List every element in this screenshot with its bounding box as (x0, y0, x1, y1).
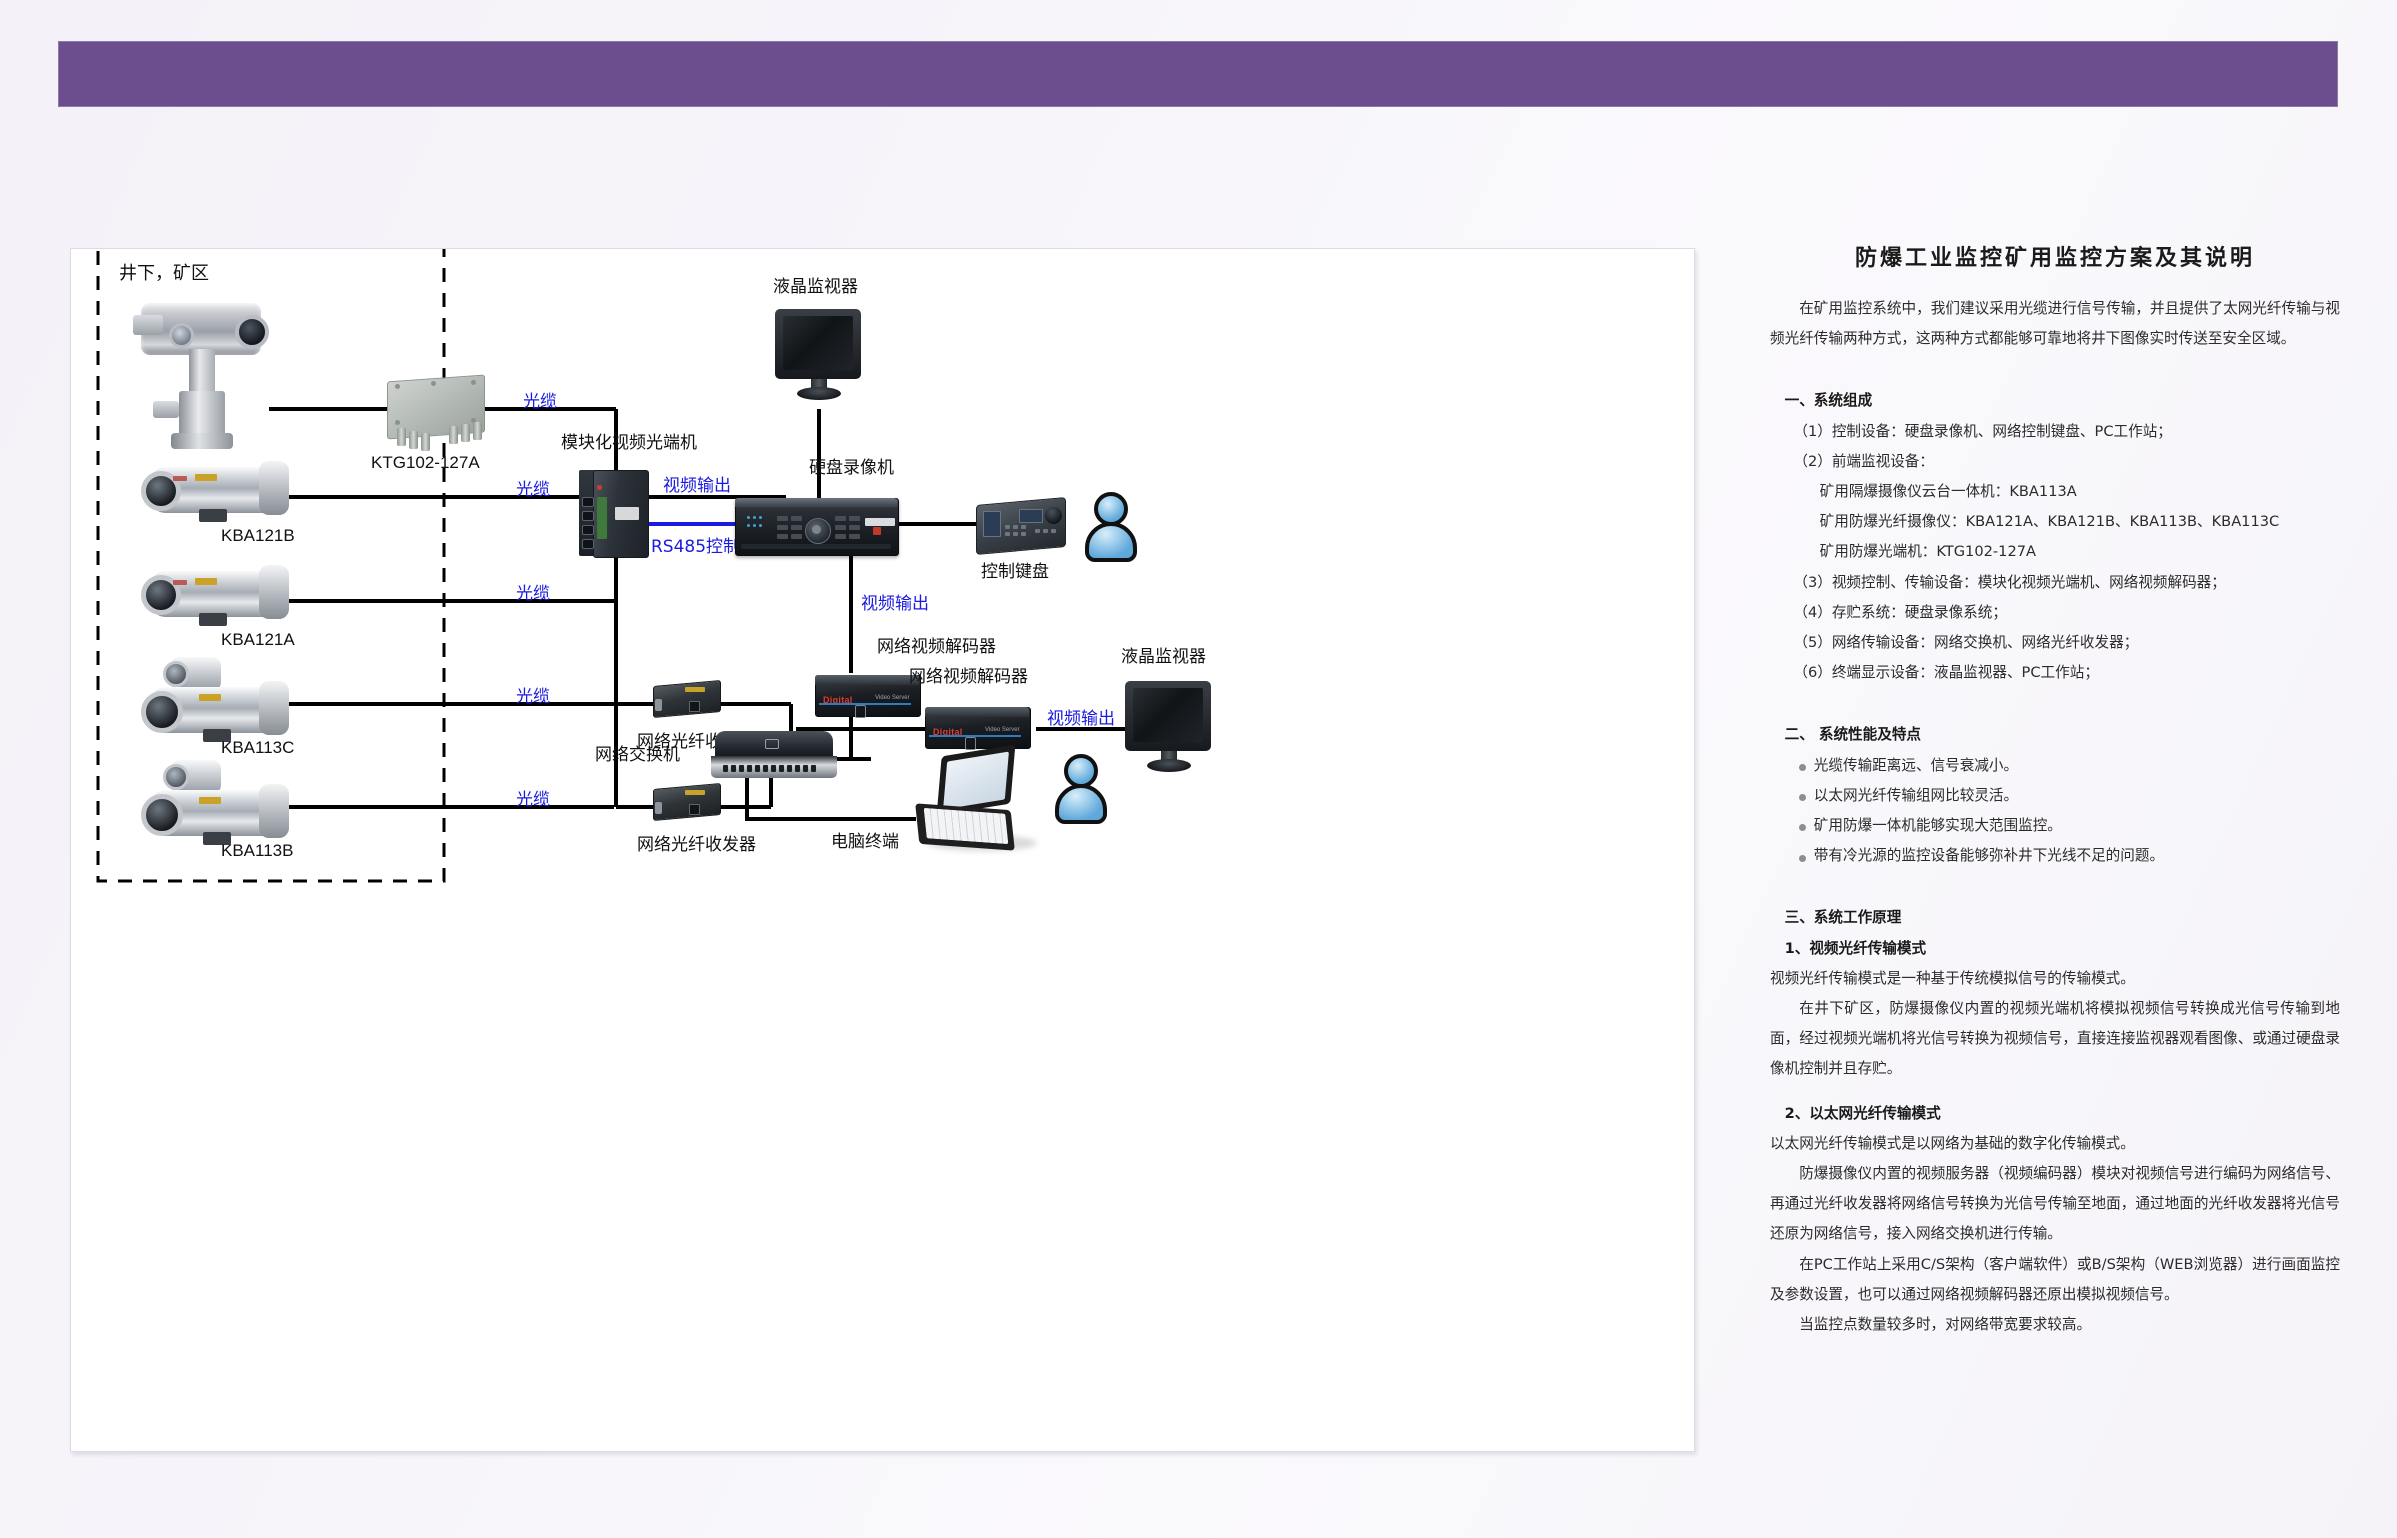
label-kba113b: KBA113B (221, 842, 293, 859)
camera-kba121b (133, 457, 293, 529)
label-video-decoder-top: 网络视频解码器 (877, 639, 996, 656)
article-intro: 在矿用监控系统中，我们建议采用光缆进行信号传输，并且提供了太网光纤传输与视频光纤… (1770, 294, 2340, 354)
section-1-subitem-2: 矿用防爆光纤摄像仪：KBA121A、KBA121B、KBA113B、KBA113… (1770, 507, 2340, 537)
header-banner (58, 41, 2338, 107)
lcd-monitor-top (771, 309, 871, 401)
section-2-bullet-2: 以太网光纤传输组网比较灵活。 (1770, 781, 2340, 811)
operator-avatar-top (1081, 492, 1141, 570)
camera-kba113c (133, 649, 303, 749)
label-dvr: 硬盘录像机 (809, 460, 894, 477)
pc-terminal-laptop (911, 749, 1051, 859)
label-video-decoder-bottom: 网络视频解码器 (909, 669, 1028, 686)
section-1-item-5: （5）网络传输设备：网络交换机、网络光纤收发器； (1770, 628, 2340, 658)
link-label-video-out-1: 视频输出 (663, 471, 731, 496)
ir-illuminator-icon (163, 764, 189, 790)
cable-label-1: 光缆 (523, 387, 557, 412)
link-label-video-out-3: 视频输出 (1047, 704, 1115, 729)
diagram-card: 井下，矿区 KBA113A KTG102 (70, 248, 1695, 1452)
fiber-transceiver-top (649, 679, 725, 721)
bullet-text: 带有冷光源的监控设备能够弥补井下光线不足的问题。 (1814, 847, 2164, 864)
label-network-switch: 网络交换机 (595, 747, 680, 764)
operator-avatar-bottom (1051, 754, 1111, 832)
section-2-bullet-4: 带有冷光源的监控设备能够弥补井下光线不足的问题。 (1770, 841, 2340, 871)
section-3-mode2-p1: 以太网光纤传输模式是以网络为基础的数字化传输模式。 (1770, 1129, 2340, 1159)
label-ktg102-127a: KTG102-127A (371, 454, 480, 471)
label-lcd-monitor-top: 液晶监视器 (773, 279, 858, 296)
article-column: 防爆工业监控矿用监控方案及其说明 在矿用监控系统中，我们建议采用光缆进行信号传输… (1770, 240, 2340, 1340)
video-decoder-top: Digital Video Server (811, 669, 925, 721)
modular-video-optical-terminal (579, 467, 639, 559)
section-1-heading: 一、系统组成 (1770, 386, 2340, 416)
label-modular-optical-terminal: 模块化视频光端机 (561, 435, 697, 452)
bullet-dot-icon (1799, 764, 1806, 771)
label-pc-terminal: 电脑终端 (831, 834, 899, 851)
bullet-dot-icon (1799, 794, 1806, 801)
section-1-subitem-1: 矿用隔爆摄像仪云台一体机：KBA113A (1770, 477, 2340, 507)
junction-box-ktg102 (383, 374, 493, 448)
bullet-text: 以太网光纤传输组网比较灵活。 (1814, 787, 2018, 804)
section-3-mode1-heading: 1、视频光纤传输模式 (1770, 934, 2340, 964)
camera-kba113b (133, 752, 303, 852)
section-2-heading: 二、 系统性能及特点 (1770, 720, 2340, 750)
section-3-mode2-p4: 当监控点数量较多时，对网络带宽要求较高。 (1770, 1310, 2340, 1340)
cable-label-4: 光缆 (516, 682, 550, 707)
label-kba121a: KBA121A (221, 631, 295, 648)
section-1-item-3: （3）视频控制、传输设备：模块化视频光端机、网络视频解码器； (1770, 568, 2340, 598)
video-decoder-bottom: Digital Video Server (921, 701, 1035, 753)
section-2-bullet-1: 光缆传输距离远、信号衰减小。 (1770, 751, 2340, 781)
link-label-video-out-2: 视频输出 (861, 589, 929, 614)
camera-lens-icon (235, 315, 269, 349)
article-title: 防爆工业监控矿用监控方案及其说明 (1770, 240, 2340, 272)
bullet-text: 矿用防爆一体机能够实现大范围监控。 (1814, 817, 2062, 834)
section-3-mode2-p3: 在PC工作站上采用C/S架构（客户端软件）或B/S架构（WEB浏览器）进行画面监… (1770, 1250, 2340, 1310)
section-3-mode1-p2: 在井下矿区，防爆摄像仪内置的视频光端机将模拟视频信号转换成光信号传输到地面，经过… (1770, 994, 2340, 1085)
link-label-rs485: RS485控制 (651, 532, 740, 557)
label-kba121b: KBA121B (221, 527, 295, 544)
camera-lens-icon (141, 691, 183, 733)
ptz-camera-kba113a (131, 291, 281, 471)
label-lcd-monitor-bottom: 液晶监视器 (1121, 649, 1206, 666)
bullet-text: 光缆传输距离远、信号衰减小。 (1814, 757, 2018, 774)
section-3-mode1-p1: 视频光纤传输模式是一种基于传统模拟信号的传输模式。 (1770, 964, 2340, 994)
section-3-mode2-p2: 防爆摄像仪内置的视频服务器（视频编码器）模块对视频信号进行编码为网络信号、再通过… (1770, 1159, 2340, 1250)
control-keyboard (973, 497, 1073, 555)
ir-illuminator-icon (163, 661, 189, 687)
camera-illuminator-icon (169, 323, 194, 348)
lcd-monitor-bottom (1121, 681, 1221, 773)
bullet-dot-icon (1799, 855, 1806, 862)
section-3-mode2-heading: 2、以太网光纤传输模式 (1770, 1099, 2340, 1129)
camera-lens-icon (141, 794, 183, 836)
cable-label-5: 光缆 (516, 785, 550, 810)
network-topology-diagram: 井下，矿区 KBA113A KTG102 (71, 249, 1696, 1453)
dvr-recorder (731, 494, 901, 556)
section-1-item-4: （4）存贮系统：硬盘录像系统； (1770, 598, 2340, 628)
section-1-item-2: （2）前端监视设备： (1770, 447, 2340, 477)
label-fiber-transceiver-bottom: 网络光纤收发器 (637, 837, 756, 854)
section-2-bullet-3: 矿用防爆一体机能够实现大范围监控。 (1770, 811, 2340, 841)
cable-label-3: 光缆 (516, 579, 550, 604)
label-control-keyboard: 控制键盘 (981, 564, 1049, 581)
network-switch (707, 729, 843, 785)
section-1-item-6: （6）终端显示设备：液晶监视器、PC工作站； (1770, 658, 2340, 688)
underground-region-label: 井下，矿区 (119, 259, 209, 285)
section-3-heading: 三、系统工作原理 (1770, 903, 2340, 933)
section-1-subitem-3: 矿用防爆光端机：KTG102-127A (1770, 537, 2340, 567)
camera-kba121a (133, 561, 293, 633)
fiber-transceiver-bottom (649, 782, 725, 824)
cable-label-2: 光缆 (516, 475, 550, 500)
bullet-dot-icon (1799, 824, 1806, 831)
section-1-item-1: （1）控制设备：硬盘录像机、网络控制键盘、PC工作站； (1770, 417, 2340, 447)
